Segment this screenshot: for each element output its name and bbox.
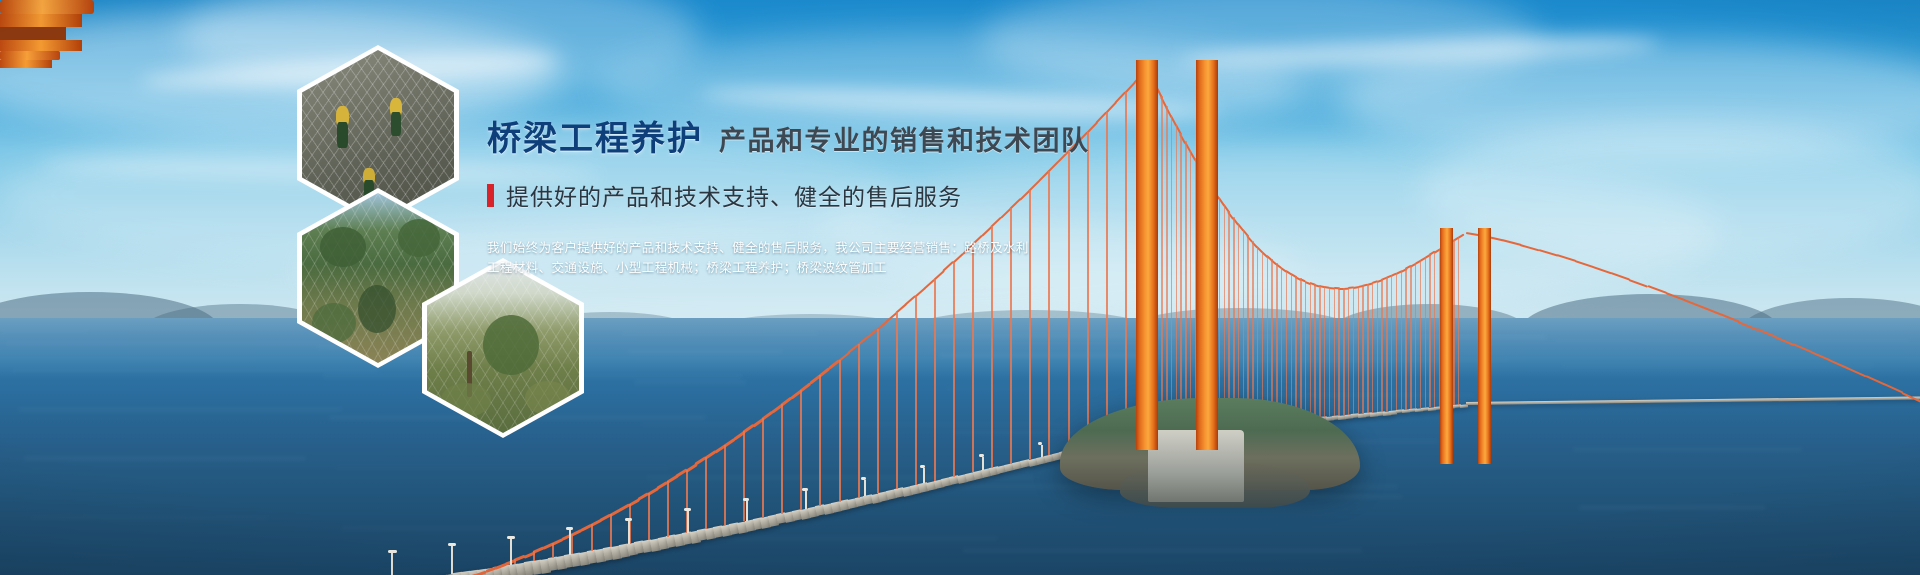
bridge-tower-sign (0, 27, 66, 40)
bridge-hanger (1224, 204, 1225, 426)
bridge-hanger (1267, 255, 1268, 422)
bridge-lamp-post (982, 457, 984, 470)
bridge-hanger (1420, 260, 1421, 408)
bridge-hanger (610, 514, 612, 547)
bridge-hanger (1262, 251, 1263, 423)
bridge-hanger (877, 329, 879, 494)
bridge-hanger (781, 404, 783, 514)
bridge-lamp-post (510, 539, 512, 565)
bridge-hanger (1348, 287, 1349, 414)
bridge-lamp-head (743, 498, 750, 501)
bridge-hanger (1434, 252, 1435, 407)
bridge-hanger (1343, 288, 1344, 416)
red-accent-bar-icon (487, 184, 494, 207)
bridge-hanger (514, 559, 516, 564)
bridge-main-cable (1883, 383, 1903, 393)
bridge-hanger (648, 493, 650, 540)
bridge-hanger (819, 375, 821, 506)
bridge-hanger (1286, 270, 1287, 420)
bridge-hanger (1291, 273, 1292, 420)
bridge-hanger (1391, 275, 1392, 411)
bridge-lamp-post (746, 501, 748, 521)
bridge-tower-top (0, 0, 94, 14)
bridge-hanger (1458, 237, 1459, 405)
bridge-hanger (591, 524, 593, 550)
suspension-bridge (0, 0, 1920, 575)
bridge-hanger (1319, 285, 1320, 417)
bridge-lamp-post (687, 511, 689, 532)
bridge-lamp-post (391, 553, 393, 575)
bridge-deck-segment (1466, 396, 1920, 404)
bridge-lamp-head (507, 536, 515, 539)
bridge-hanger (1429, 254, 1430, 407)
bridge-hanger (1377, 281, 1378, 412)
bridge-main-cable (1847, 367, 1867, 377)
bridge-hanger (953, 262, 955, 477)
bridge-hanger (1353, 287, 1354, 415)
bridge-hanger (1410, 266, 1411, 410)
bridge-main-cable (1793, 343, 1813, 353)
bridge-hanger (1396, 273, 1397, 411)
bridge-hanger (1314, 284, 1315, 418)
bridge-hanger (1362, 285, 1363, 413)
bridge-main-cable (1684, 299, 1704, 308)
bridge-main-cable (1774, 336, 1794, 345)
bridge-hanger (1276, 263, 1277, 421)
bridge-hanger (1324, 286, 1325, 417)
bridge-hanger (1295, 276, 1296, 419)
bridge-hanger (839, 360, 841, 502)
bridge-lamp-head (979, 454, 984, 457)
bridge-lamp-post (569, 530, 571, 554)
bridge-main-cable (1538, 249, 1558, 256)
bridge-lamp-post (805, 491, 807, 509)
bridge-hanger (1310, 282, 1311, 418)
bridge-second-tower-crossbeam (0, 60, 52, 68)
bridge-hanger (1257, 246, 1258, 423)
bridge-main-cable (1738, 321, 1758, 330)
bridge-hanger (1233, 217, 1234, 425)
bridge-second-tower-leg (1440, 228, 1453, 464)
paragraph-line-1: 我们始终为客户提供好的产品和技术支持、健全的售后服务，我公司主要经营销售：路桥及… (487, 238, 1207, 258)
paragraph-line-2: 工程材料、交通设施、小型工程机械；桥梁工程养护；桥梁波纹管加工 (487, 258, 1207, 278)
bridge-hanger (1358, 286, 1359, 414)
bridge-lamp-post (628, 521, 630, 544)
bridge-hanger (1329, 287, 1330, 416)
bridge-lamp-post (864, 480, 866, 497)
bridge-hanger (1367, 284, 1368, 413)
bridge-lamp-head (625, 518, 632, 521)
bridge-main-cable (1811, 351, 1831, 361)
bridge-hanger (1425, 257, 1426, 408)
bridge-hanger (1401, 271, 1402, 410)
bridge-hanger (1271, 259, 1272, 421)
bridge-main-cable (1665, 292, 1685, 301)
bridge-hanger (1247, 235, 1248, 424)
bridge-main-cable (1557, 255, 1577, 263)
bridge-hanger (1281, 267, 1282, 421)
bridge-hanger (1453, 240, 1454, 405)
bridge-hanger (1405, 268, 1406, 409)
bridge-main-cable (1520, 244, 1540, 251)
subline-text: 提供好的产品和技术支持、健全的售后服务 (506, 178, 962, 212)
headline-sub-text: 产品和专业的销售和技术团队 (719, 126, 1090, 156)
bridge-hanger (1238, 223, 1239, 424)
bridge-hanger (1252, 241, 1253, 424)
bridge-lamp-head (861, 477, 867, 480)
bridge-second-tower-leg (1478, 228, 1491, 464)
headline-main-text: 桥梁工程养护 (487, 120, 703, 158)
bridge-hanger (858, 344, 860, 497)
bridge-lamp-head (802, 488, 808, 491)
bridge-hanger (1381, 279, 1382, 412)
bridge-hanger (533, 551, 535, 560)
bridge-second-tower-top (0, 51, 60, 60)
bridge-hanger (1228, 211, 1229, 426)
bridge-main-cable (1629, 279, 1649, 287)
bridge-hanger (1243, 229, 1244, 424)
bridge-main-cable (1865, 375, 1885, 385)
bridge-hanger (724, 445, 726, 526)
bridge-hanger (1415, 263, 1416, 409)
bridge-lamp-post (1041, 445, 1043, 457)
bridge-hanger (1372, 282, 1373, 412)
bridge-main-cable (1720, 313, 1740, 322)
bridge-lamp-post (451, 546, 453, 574)
bridge-tower-crossbeam (0, 14, 82, 27)
banner-subline: 提供好的产品和技术支持、健全的售后服务 (487, 178, 1207, 212)
bridge-hanger (1338, 288, 1339, 416)
bridge-hanger (1219, 197, 1220, 426)
banner-headline: 桥梁工程养护产品和专业的销售和技术团队 (487, 122, 1207, 156)
hero-banner: 桥梁工程养护产品和专业的销售和技术团队 提供好的产品和技术支持、健全的售后服务 … (0, 0, 1920, 575)
banner-paragraph: 我们始终为客户提供好的产品和技术支持、健全的售后服务，我公司主要经营销售：路桥及… (487, 238, 1207, 278)
bridge-lamp-head (684, 508, 691, 511)
bridge-hanger (1305, 281, 1306, 419)
bridge-hanger (800, 390, 802, 510)
bridge-main-cable (1611, 272, 1631, 280)
bridge-main-cable (1647, 285, 1667, 294)
bridge-hanger (972, 244, 974, 472)
bridge-tower-crossbeam (0, 40, 82, 51)
bridge-hanger (1334, 287, 1335, 416)
bridge-hanger (705, 457, 707, 529)
bridge-hanger (667, 481, 669, 536)
bridge-main-cable (1575, 260, 1595, 268)
bridge-lamp-post (923, 468, 925, 483)
bridge-hanger (934, 279, 936, 481)
bridge-hanger (762, 418, 764, 518)
bridge-hanger (915, 296, 917, 485)
bridge-hanger (896, 312, 898, 489)
bridge-hanger (1300, 278, 1301, 419)
bridge-lamp-head (388, 550, 397, 553)
bridge-hanger (552, 543, 554, 558)
bridge-lamp-head (566, 527, 574, 530)
bridge-hanger (571, 534, 573, 554)
bridge-main-cable (1756, 328, 1776, 337)
bridge-hanger (1386, 277, 1387, 411)
banner-text-block: 桥梁工程养护产品和专业的销售和技术团队 提供好的产品和技术支持、健全的售后服务 … (487, 122, 1207, 278)
